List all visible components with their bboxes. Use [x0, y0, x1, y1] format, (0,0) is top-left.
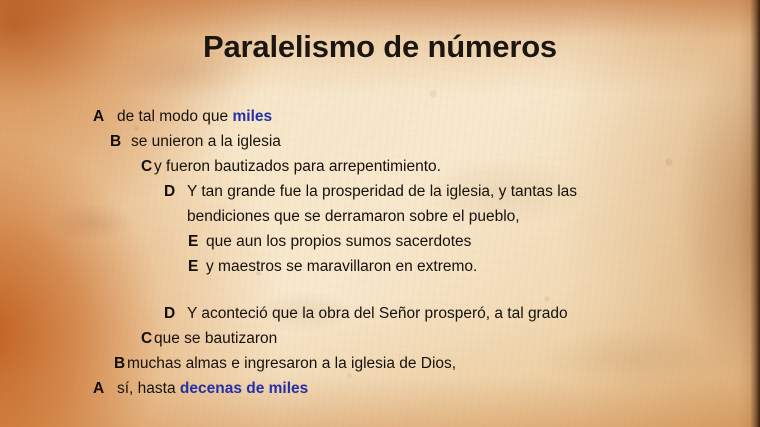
parallelism-line: Ey maestros se maravillaron en extremo. [0, 258, 760, 283]
parallelism-line: Bse unieron a la iglesia [0, 133, 760, 158]
highlighted-term: miles [232, 108, 272, 125]
line-text: se unieron a la iglesia [131, 133, 281, 151]
line-text: bendiciones que se derramaron sobre el p… [187, 208, 520, 226]
parallelism-line: Bmuchas almas e ingresaron a la iglesia … [0, 355, 760, 380]
line-spacer [0, 283, 760, 305]
parallelism-line: Así, hasta decenas de miles [0, 380, 760, 405]
line-marker: A [93, 108, 104, 126]
line-marker: E [188, 258, 198, 276]
highlighted-term: decenas de miles [180, 380, 308, 397]
parallelism-line: Ade tal modo que miles [0, 108, 760, 133]
line-text: Y aconteció que la obra del Señor prospe… [187, 305, 568, 323]
line-text: muchas almas e ingresaron a la iglesia d… [127, 355, 456, 373]
line-marker: B [110, 133, 121, 151]
line-text: y maestros se maravillaron en extremo. [206, 258, 477, 276]
line-text: que se bautizaron [154, 330, 277, 348]
line-text: sí, hasta decenas de miles [117, 380, 308, 398]
parallelism-line: Cque se bautizaron [0, 330, 760, 355]
line-marker: D [164, 183, 175, 201]
line-marker: B [114, 355, 125, 373]
parallelism-line: bendiciones que se derramaron sobre el p… [0, 208, 760, 233]
slide-body: Ade tal modo que milesBse unieron a la i… [0, 108, 760, 405]
line-marker: C [141, 330, 152, 348]
line-marker: C [141, 158, 152, 176]
parallelism-line: DY aconteció que la obra del Señor prosp… [0, 305, 760, 330]
parallelism-line: DY tan grande fue la prosperidad de la i… [0, 183, 760, 208]
line-marker: E [188, 233, 198, 251]
parallelism-line: Eque aun los propios sumos sacerdotes [0, 233, 760, 258]
line-marker: A [93, 380, 104, 398]
slide-title: Paralelismo de números [0, 29, 760, 65]
line-text: que aun los propios sumos sacerdotes [206, 233, 471, 251]
line-text: y fueron bautizados para arrepentimiento… [154, 158, 441, 176]
line-marker: D [164, 305, 175, 323]
line-text: de tal modo que miles [117, 108, 272, 126]
line-text: Y tan grande fue la prosperidad de la ig… [187, 183, 577, 201]
presentation-slide: Paralelismo de números Ade tal modo que … [0, 0, 760, 427]
parallelism-line: Cy fueron bautizados para arrepentimient… [0, 158, 760, 183]
